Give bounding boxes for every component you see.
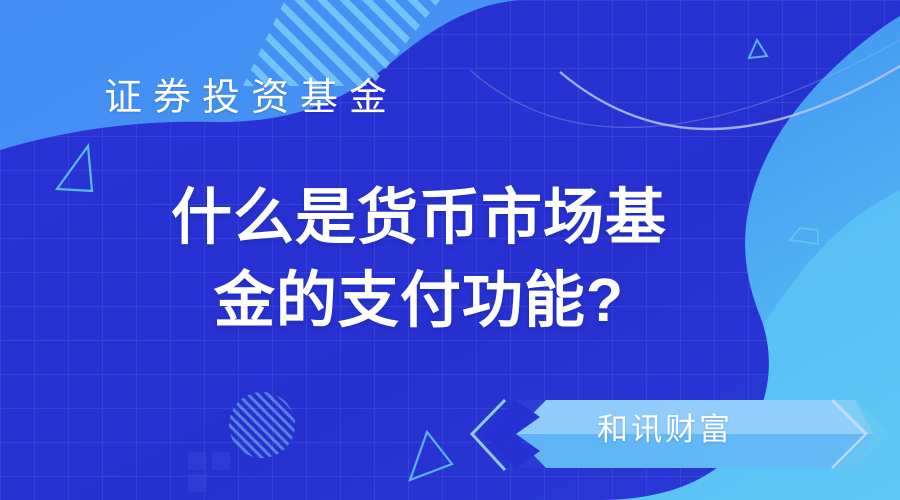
poster-title-line-1: 什么是货币市场基 [0, 176, 838, 259]
brand-name-label: 和讯财富 [500, 404, 830, 456]
poster-title-line-2: 金的支付功能? [0, 259, 838, 342]
poster-canvas: 证券投资基金 什么是货币市场基 金的支付功能? 和讯财富 [0, 0, 900, 500]
poster-title: 什么是货币市场基 金的支付功能? [0, 176, 838, 342]
poster-subtitle: 证券投资基金 [104, 76, 398, 122]
